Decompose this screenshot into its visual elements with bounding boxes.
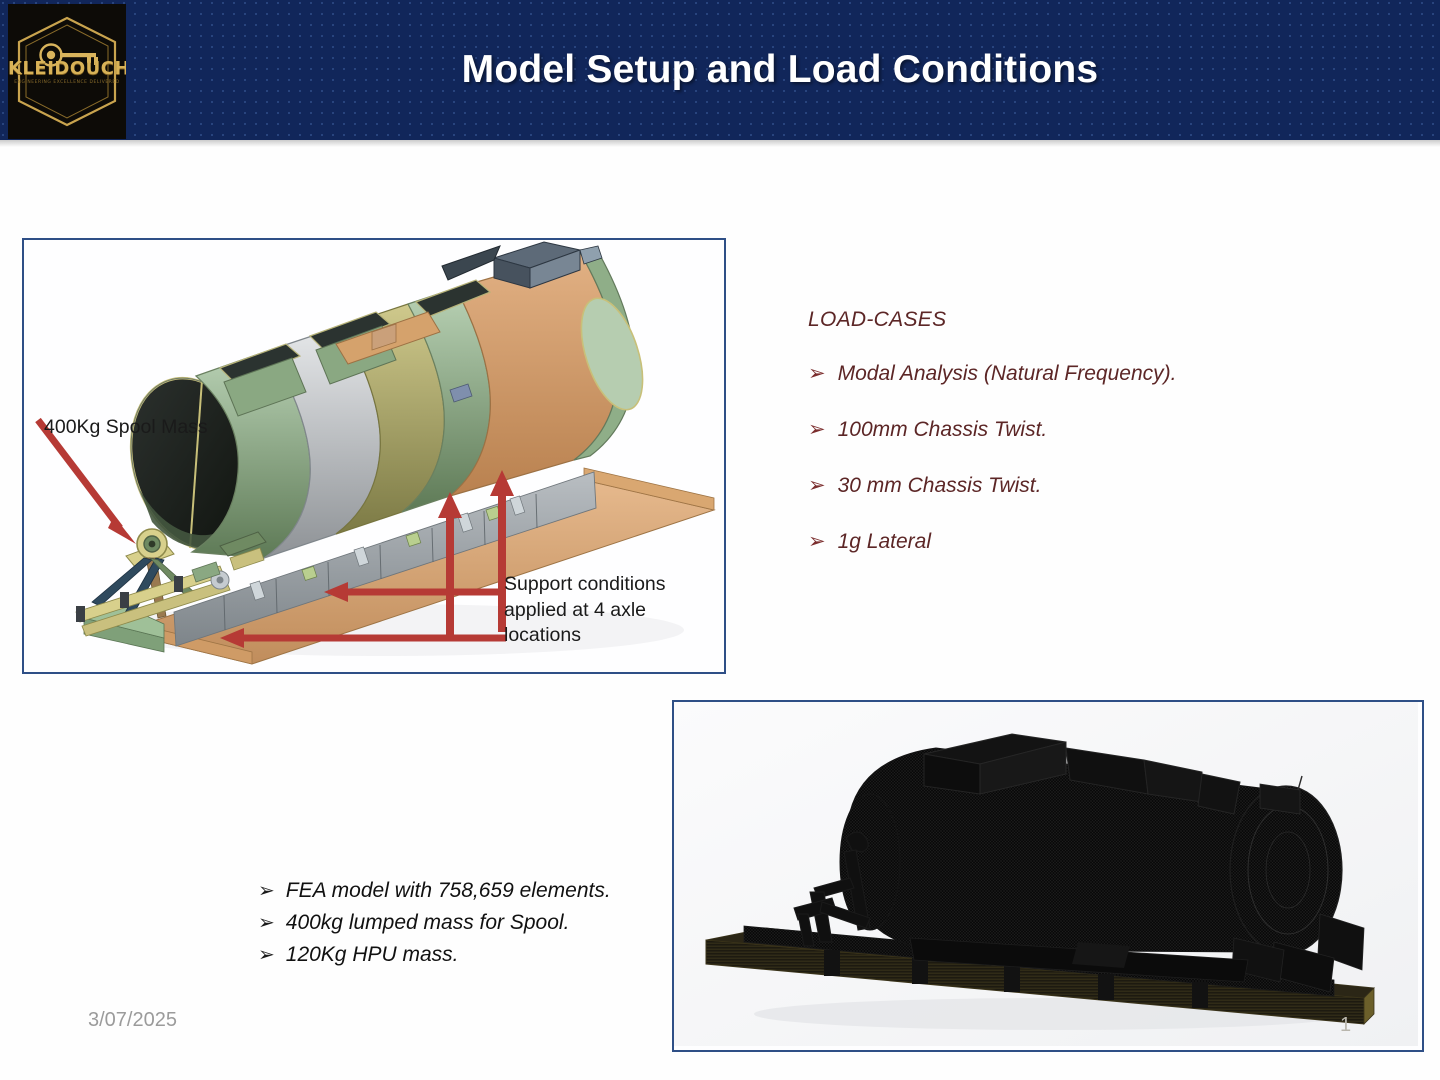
load-case-label: 100mm Chassis Twist. xyxy=(838,418,1048,441)
arrow-bullet-icon: ➢ xyxy=(258,910,275,934)
fea-note-item: ➢ 400kg lumped mass for Spool. xyxy=(258,910,738,935)
logo-wordmark: KLEIDOUCHOS xyxy=(8,58,126,79)
annotation-spool-mass: 400Kg Spool Mass xyxy=(44,415,208,441)
arrow-bullet-icon: ➢ xyxy=(258,878,275,902)
page-number: 1 xyxy=(1340,1014,1351,1037)
logo-artwork: KLEIDOUCHOS ENGINEERING EXCELLENCE DELIV… xyxy=(8,4,126,139)
fea-note-item: ➢ FEA model with 758,659 elements. xyxy=(258,878,738,903)
load-cases-list: ➢ Modal Analysis (Natural Frequency). ➢ … xyxy=(808,362,1368,586)
fea-note-label: 400kg lumped mass for Spool. xyxy=(286,910,570,935)
page-title: Model Setup and Load Conditions xyxy=(120,0,1440,140)
slide-date: 3/07/2025 xyxy=(88,1009,177,1032)
load-case-label: 1g Lateral xyxy=(838,530,931,553)
slide-canvas: Model Setup and Load Conditions KLEIDOUC… xyxy=(0,0,1440,1080)
load-cases-heading: LOAD-CASES xyxy=(808,308,946,332)
load-case-label: 30 mm Chassis Twist. xyxy=(838,474,1042,497)
arrow-bullet-icon: ➢ xyxy=(258,942,275,966)
load-case-item: ➢ 30 mm Chassis Twist. xyxy=(808,474,1368,497)
annotation-support-conditions: Support conditions applied at 4 axle loc… xyxy=(504,572,704,649)
fea-note-item: ➢ 120Kg HPU mass. xyxy=(258,942,738,967)
fea-mesh-panel xyxy=(672,700,1424,1052)
arrow-bullet-icon: ➢ xyxy=(808,362,826,385)
arrow-bullet-icon: ➢ xyxy=(808,530,826,553)
fea-note-label: 120Kg HPU mass. xyxy=(286,942,459,967)
load-case-item: ➢ 100mm Chassis Twist. xyxy=(808,418,1368,441)
fea-notes-list: ➢ FEA model with 758,659 elements. ➢ 400… xyxy=(258,878,738,975)
arrow-bullet-icon: ➢ xyxy=(808,474,826,497)
arrow-bullet-icon: ➢ xyxy=(808,418,826,441)
header-drop-shadow xyxy=(0,140,1440,147)
fea-note-label: FEA model with 758,659 elements. xyxy=(286,878,611,903)
company-logo: KLEIDOUCHOS ENGINEERING EXCELLENCE DELIV… xyxy=(8,4,126,139)
load-case-item: ➢ Modal Analysis (Natural Frequency). xyxy=(808,362,1368,385)
fea-mesh-render xyxy=(674,702,1418,1046)
load-case-item: ➢ 1g Lateral xyxy=(808,530,1368,553)
logo-tagline: ENGINEERING EXCELLENCE DELIVERED xyxy=(8,80,126,85)
load-case-label: Modal Analysis (Natural Frequency). xyxy=(838,362,1177,385)
